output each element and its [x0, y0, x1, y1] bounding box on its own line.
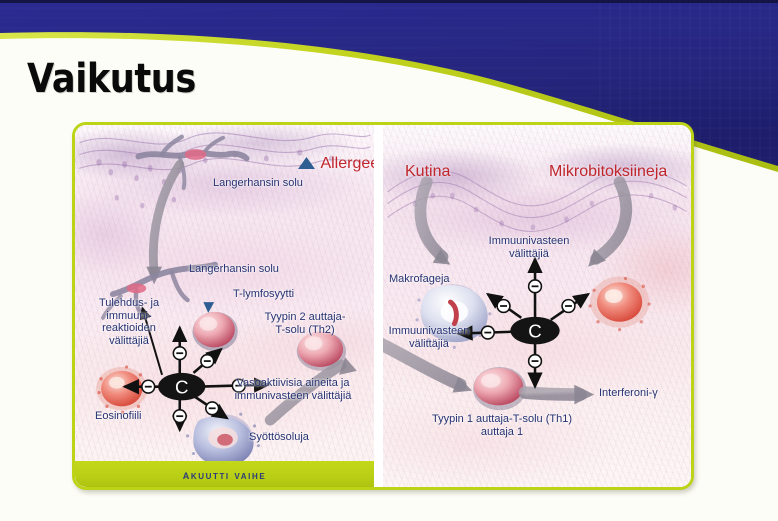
antigen-triangle-icon	[203, 302, 214, 313]
label-th1-cell: Tyypin 1 auttaja-T-solu (Th1) auttaja 1	[417, 413, 587, 438]
microbial-toxins-heading: Mikrobitoksiineja	[549, 163, 667, 181]
panel-chronic-phase: C Kutina Mikrobitoksiineja Immuunivastee…	[383, 125, 691, 487]
page-title: Vaikutus	[27, 56, 196, 102]
hub-label-c: C	[175, 377, 188, 398]
label-inflammation-mediators: Tulehdus- ja immuuni- reaktioiden välitt…	[89, 297, 169, 347]
panel-acute-phase: C Allergeeni Langerhansin solu Langerhan…	[75, 125, 374, 487]
triangle-marker-icon	[297, 156, 316, 170]
label-immune-mediators-top: Immuunivasteen välittäjiä	[477, 235, 581, 260]
footer-acute-label: Akuutti vaihe	[183, 467, 267, 482]
panel-divider	[374, 125, 383, 487]
label-langerhans-cell-top: Langerhansin solu	[213, 177, 303, 190]
label-interferon-gamma: Interferoni-γ	[599, 387, 658, 400]
th1-cell-shape	[473, 367, 526, 410]
slide-canvas: Vaikutus	[0, 0, 778, 521]
red-effector-cell-shape	[589, 276, 651, 331]
eosinophil-cell-shape	[96, 365, 147, 413]
label-mast-cells: Syöttösoluja	[249, 431, 309, 444]
label-vasoactive-mediators: Vasoaktiivisia aineita ja immunivasteen …	[213, 377, 373, 402]
label-langerhans-cell-mid: Langerhansin solu	[189, 263, 279, 276]
label-immune-mediators-left: Immuunivasteen välittäjiä	[383, 325, 481, 350]
migration-arrow-shape	[153, 164, 179, 272]
hub-label-c: C	[528, 320, 542, 341]
immune-response-diagram: C Allergeeni Langerhansin solu Langerhan…	[72, 122, 694, 490]
label-macrophages: Makrofageja	[389, 273, 450, 286]
label-th2-cell: Tyypin 2 auttaja- T-solu (Th2)	[251, 311, 359, 336]
footer-acute-phase: Akuutti vaihe	[75, 461, 374, 487]
itching-heading: Kutina	[405, 163, 450, 181]
label-eosinophil: Eosinofiili	[95, 410, 141, 423]
label-t-lymphocyte: T-lymfosyytti	[233, 288, 294, 301]
t-lymphocyte-cell-shape	[193, 312, 238, 351]
